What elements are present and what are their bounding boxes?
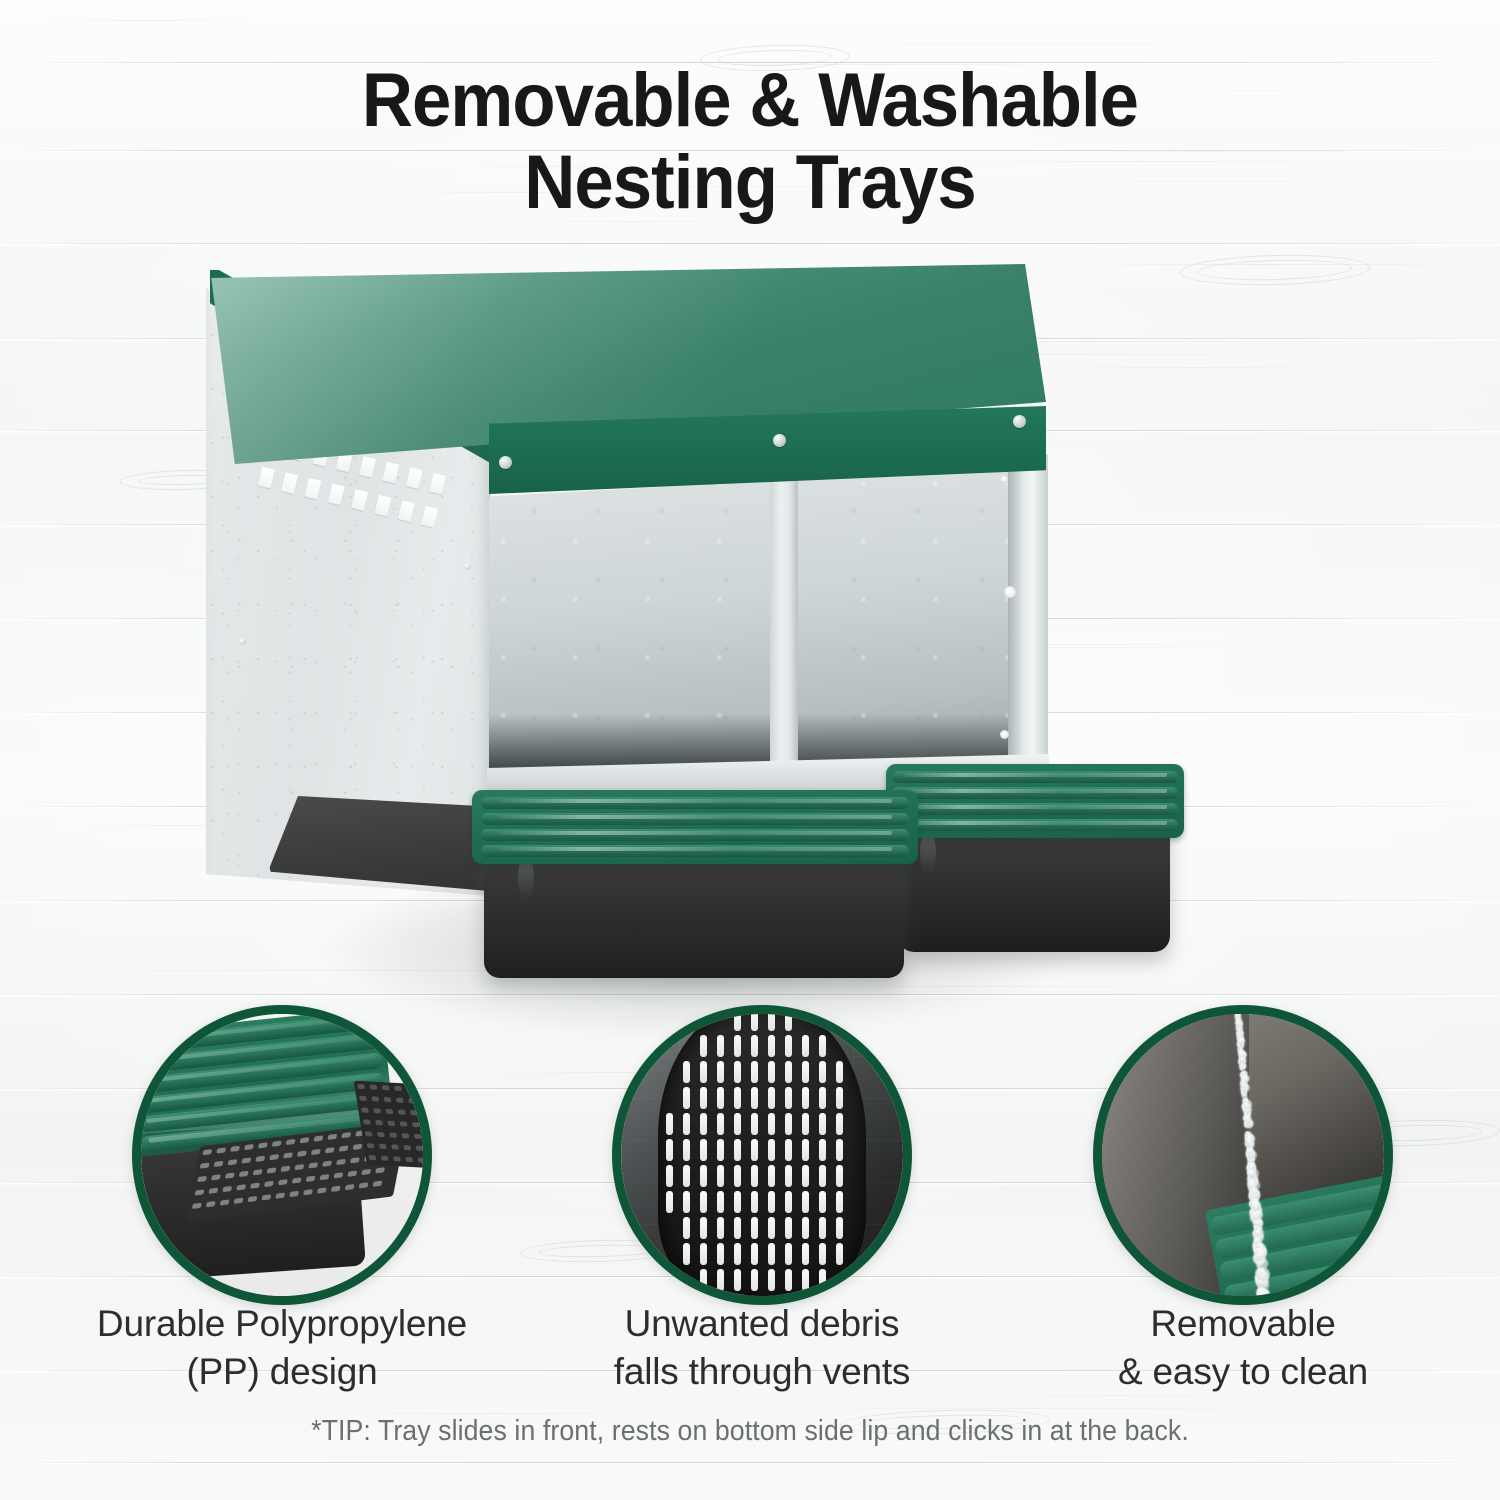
vent-slot: [717, 1113, 724, 1135]
vent-slot: [785, 1014, 792, 1031]
grate-hole: [211, 1174, 221, 1180]
wood-grain-line: [675, 1408, 1404, 1409]
wood-grain-line: [38, 20, 257, 21]
water-droplet: [1258, 1294, 1264, 1296]
vent-slot: [751, 1087, 758, 1109]
grate-hole: [368, 1155, 376, 1160]
grate-hole: [331, 1186, 341, 1192]
grate-hole: [261, 1194, 271, 1200]
grate-hole: [252, 1169, 262, 1175]
vent-slot: [359, 456, 376, 478]
vent-slot: [734, 1165, 741, 1187]
vent-slot: [802, 1113, 809, 1135]
vent-slot: [785, 1269, 792, 1291]
vent-slot: [819, 1087, 826, 1109]
grate-hole: [219, 1200, 229, 1206]
grate-hole: [255, 1156, 265, 1162]
grate-hole: [308, 1163, 318, 1169]
vent-slot: [836, 1191, 843, 1213]
vent-slot: [785, 1113, 792, 1135]
vent-slot: [836, 1113, 843, 1135]
grate-hole: [313, 1136, 323, 1142]
grate-hole: [379, 1143, 387, 1148]
vent-slot: [700, 1269, 707, 1291]
grate-hole: [216, 1148, 226, 1154]
nesting-box-interior: [489, 466, 1046, 802]
grate-hole: [202, 1149, 212, 1155]
roof-screw: [499, 456, 512, 469]
vent-slot: [751, 1191, 758, 1213]
grate-hole: [324, 1147, 334, 1153]
wood-grain-line: [327, 1413, 657, 1414]
grate-hole: [412, 1122, 420, 1127]
vent-slot: [751, 1113, 758, 1135]
vent-slot: [683, 1113, 690, 1135]
grate-hole: [377, 1132, 385, 1137]
grate-hole: [408, 1098, 416, 1103]
tray-rib: [892, 771, 1178, 783]
grate-hole: [311, 1149, 321, 1155]
grate-hole: [417, 1157, 423, 1162]
vent-slot: [751, 1269, 758, 1291]
vent-slot: [328, 484, 345, 506]
vent-slot: [768, 1139, 775, 1161]
grate-hole: [264, 1181, 274, 1187]
vent-slot: [768, 1035, 775, 1057]
grate-hole: [359, 1095, 367, 1100]
grate-hole: [291, 1178, 301, 1184]
grate-hole: [372, 1181, 382, 1187]
caption-washable: Removable & easy to clean: [1033, 1300, 1453, 1396]
vent-slot: [836, 1165, 843, 1187]
grate-hole: [371, 1096, 379, 1101]
tray-rib: [892, 787, 1178, 799]
vent-slot: [717, 1191, 724, 1213]
grate-hole: [385, 1108, 393, 1113]
grate-hole: [373, 1108, 381, 1113]
vent-slot: [819, 1243, 826, 1265]
vent-slot: [768, 1061, 775, 1083]
grate-hole: [327, 1134, 337, 1140]
vent-slot: [768, 1165, 775, 1187]
circle-ring-3: [1093, 1005, 1393, 1305]
vent-slot: [785, 1061, 792, 1083]
vent-slot: [819, 1269, 826, 1291]
vent-slot: [700, 1035, 707, 1057]
grate-hole: [416, 1145, 423, 1150]
grate-hole: [269, 1154, 279, 1160]
vent-slot: [398, 500, 415, 522]
tray-rib: [481, 797, 909, 809]
circle-image-2: [621, 1014, 903, 1296]
grate-hole: [361, 1107, 369, 1112]
tray-rib: [481, 813, 909, 825]
vent-slot: [836, 1243, 843, 1265]
grate-hole: [333, 1173, 343, 1179]
grate-hole: [401, 1133, 409, 1138]
grate-hole: [278, 1179, 288, 1185]
vent-slot: [768, 1243, 775, 1265]
grate-hole: [213, 1161, 223, 1167]
grate-hole: [297, 1151, 307, 1157]
grate-hole: [344, 1184, 354, 1190]
vent-slot: [421, 506, 438, 528]
tray-body: [898, 822, 1170, 952]
grate-hole: [230, 1146, 240, 1152]
grate-hole: [289, 1191, 299, 1197]
page-title: Removable & Washable Nesting Trays: [53, 60, 1448, 224]
grate-hole: [247, 1196, 257, 1202]
grate-hole: [336, 1159, 346, 1165]
feature-circle-washable: [1093, 1005, 1393, 1305]
grate-hole: [405, 1157, 413, 1162]
vent-slot: [785, 1217, 792, 1239]
grate-hole: [369, 1084, 377, 1089]
tray-rib: [481, 845, 909, 857]
vent-slot: [819, 1217, 826, 1239]
vent-slot: [734, 1217, 741, 1239]
vent-slot: [374, 495, 391, 517]
tip-note: *TIP: Tray slides in front, rests on bot…: [60, 1415, 1440, 1448]
grate-hole: [227, 1159, 237, 1165]
vent-slot: [768, 1014, 775, 1031]
feature-circle-polypropylene: [132, 1005, 432, 1305]
tray-rib: [892, 803, 1178, 815]
vent-slot: [700, 1243, 707, 1265]
vent-slot: [802, 1165, 809, 1187]
vent-slot: [819, 1139, 826, 1161]
grate-hole: [233, 1198, 243, 1204]
grate-hole: [414, 1133, 422, 1138]
vent-slot: [734, 1139, 741, 1161]
grate-hole: [222, 1186, 232, 1192]
grate-hole: [381, 1155, 389, 1160]
vent-slot: [751, 1217, 758, 1239]
vent-slot: [768, 1113, 775, 1135]
vent-slot: [717, 1087, 724, 1109]
vent-slot: [717, 1035, 724, 1057]
vent-slot: [429, 473, 446, 495]
vent-slot: [785, 1165, 792, 1187]
vent-slot: [819, 1035, 826, 1057]
side-screw: [239, 638, 246, 645]
vent-slot: [751, 1165, 758, 1187]
vent-slot: [666, 1165, 673, 1187]
grate-hole: [367, 1143, 375, 1148]
circle-ring-2: [612, 1005, 912, 1305]
vent-slot: [666, 1191, 673, 1213]
grate-hole: [375, 1167, 385, 1173]
vent-slot: [802, 1061, 809, 1083]
grate-hole: [266, 1168, 276, 1174]
vent-slot: [802, 1243, 809, 1265]
grate-hole: [365, 1131, 373, 1136]
tray-rib: [892, 819, 1178, 831]
compartment-divider: [770, 444, 798, 774]
vent-slot: [785, 1087, 792, 1109]
vent-slot: [700, 1165, 707, 1187]
vent-slot: [717, 1165, 724, 1187]
grate-hole: [375, 1120, 383, 1125]
vent-slot: [683, 1087, 690, 1109]
vent-slot: [785, 1191, 792, 1213]
grate-hole: [403, 1145, 411, 1150]
grate-hole: [272, 1141, 282, 1147]
vent-slot: [734, 1035, 741, 1057]
vent-slot: [819, 1191, 826, 1213]
vent-slot: [717, 1139, 724, 1161]
grate-hole: [299, 1137, 309, 1143]
vent-slot: [683, 1191, 690, 1213]
grate-hole: [194, 1190, 204, 1196]
grate-hole: [363, 1119, 371, 1124]
grate-hole: [394, 1085, 402, 1090]
grate-hole: [358, 1183, 368, 1189]
vent-slot: [734, 1087, 741, 1109]
feature-circle-vents: [612, 1005, 912, 1305]
grate-hole: [303, 1189, 313, 1195]
vent-slot: [258, 467, 275, 489]
grate-hole: [322, 1161, 332, 1167]
vent-slot: [281, 472, 298, 494]
vent-slot: [802, 1087, 809, 1109]
vent-slot: [683, 1217, 690, 1239]
grate-hole: [192, 1203, 202, 1209]
grate-hole: [352, 1144, 362, 1150]
grate-hole: [410, 1110, 418, 1115]
vent-slot: [836, 1061, 843, 1083]
vent-slot: [683, 1243, 690, 1265]
grate-hole: [393, 1156, 401, 1161]
vent-slot: [819, 1061, 826, 1083]
roof-screw: [773, 434, 786, 447]
grate-hole: [244, 1144, 254, 1150]
grate-hole: [206, 1201, 216, 1207]
vent-slot: [734, 1113, 741, 1135]
grate-hole: [317, 1188, 327, 1194]
vent-slot: [734, 1014, 741, 1031]
vent-slot: [734, 1061, 741, 1083]
circle-image-1: [141, 1014, 423, 1296]
vent-slot: [785, 1035, 792, 1057]
vent-slot: [683, 1165, 690, 1187]
vent-slot: [751, 1035, 758, 1057]
vent-slot: [768, 1217, 775, 1239]
vent-slot: [734, 1243, 741, 1265]
vent-slot: [785, 1139, 792, 1161]
grate-hole: [382, 1085, 390, 1090]
nesting-tray-left: [484, 790, 904, 1000]
grate-hole: [389, 1132, 397, 1137]
grate-hole: [400, 1121, 408, 1126]
vent-slot: [836, 1087, 843, 1109]
vent-slot: [734, 1269, 741, 1291]
vent-slot: [717, 1061, 724, 1083]
grate-hole: [197, 1176, 207, 1182]
grate-hole: [275, 1193, 285, 1199]
vent-slot: [382, 462, 399, 484]
grate-hole: [387, 1120, 395, 1125]
vent-slot: [819, 1165, 826, 1187]
grate-hole: [236, 1184, 246, 1190]
vent-slot: [717, 1243, 724, 1265]
grate-hole: [305, 1176, 315, 1182]
tray-lid: [886, 764, 1184, 838]
mounting-hole: [1000, 730, 1009, 739]
grate-hole: [406, 1086, 414, 1091]
mounting-hole: [1000, 475, 1008, 483]
vent-slot: [683, 1139, 690, 1161]
nesting-tray-right: [898, 764, 1170, 954]
grate-hole: [396, 1097, 404, 1102]
vent-slot: [700, 1113, 707, 1135]
vent-slot: [802, 1217, 809, 1239]
vent-slot: [717, 1269, 724, 1291]
grate-hole: [239, 1171, 249, 1177]
vent-slot: [819, 1113, 826, 1135]
grate-hole: [280, 1166, 290, 1172]
circle-ring-1: [132, 1005, 432, 1305]
circle2-vent-grid: [658, 1014, 867, 1296]
vent-slot: [700, 1087, 707, 1109]
vent-slot: [785, 1243, 792, 1265]
grate-hole: [341, 1132, 351, 1138]
tray-rib: [481, 829, 909, 841]
vent-slot: [751, 1243, 758, 1265]
grate-hole: [208, 1188, 218, 1194]
mounting-hole: [1004, 586, 1016, 598]
vent-slot: [802, 1139, 809, 1161]
vent-slot: [351, 489, 368, 511]
vent-slot: [802, 1269, 809, 1291]
grate-hole: [384, 1097, 392, 1102]
grate-hole: [338, 1146, 348, 1152]
vent-slot: [304, 478, 321, 500]
hero-product-image: [0, 230, 1500, 1020]
caption-polypropylene: Durable Polypropylene (PP) design: [72, 1300, 492, 1396]
vent-slot: [700, 1217, 707, 1239]
vent-slot: [768, 1269, 775, 1291]
vent-slot: [802, 1035, 809, 1057]
vent-slot: [768, 1087, 775, 1109]
vent-slot: [751, 1061, 758, 1083]
grate-hole: [250, 1183, 260, 1189]
side-screw: [464, 563, 471, 570]
grate-hole: [199, 1163, 209, 1169]
vent-slot: [700, 1191, 707, 1213]
grate-hole: [285, 1139, 295, 1145]
grate-hole: [347, 1171, 357, 1177]
caption-vents: Unwanted debris falls through vents: [552, 1300, 972, 1396]
vent-slot: [751, 1139, 758, 1161]
wood-plank-seam: [0, 1462, 1500, 1463]
grate-hole: [350, 1157, 360, 1163]
vent-slot: [836, 1217, 843, 1239]
vent-slot: [666, 1113, 673, 1135]
circle-image-3: [1102, 1014, 1384, 1296]
feature-circles: [0, 1005, 1500, 1315]
vent-slot: [751, 1014, 758, 1031]
vent-slot: [406, 467, 423, 489]
vent-slot: [683, 1061, 690, 1083]
vent-slot: [768, 1191, 775, 1213]
vent-slot: [802, 1191, 809, 1213]
grate-hole: [283, 1153, 293, 1159]
vent-slot: [836, 1139, 843, 1161]
right-side-post: [1008, 446, 1048, 784]
vent-slot: [666, 1139, 673, 1161]
grate-hole: [294, 1164, 304, 1170]
tray-lid: [472, 790, 918, 864]
grate-hole: [398, 1109, 406, 1114]
grate-hole: [361, 1169, 371, 1175]
vent-slot: [717, 1217, 724, 1239]
grate-hole: [258, 1143, 268, 1149]
vent-slot: [700, 1061, 707, 1083]
tray-body: [484, 848, 904, 978]
roof-screw: [1013, 415, 1026, 428]
grate-hole: [241, 1158, 251, 1164]
grate-hole: [391, 1144, 399, 1149]
grate-hole: [357, 1084, 365, 1089]
vent-slot: [734, 1191, 741, 1213]
grate-hole: [319, 1174, 329, 1180]
grate-hole: [225, 1173, 235, 1179]
vent-slot: [700, 1139, 707, 1161]
